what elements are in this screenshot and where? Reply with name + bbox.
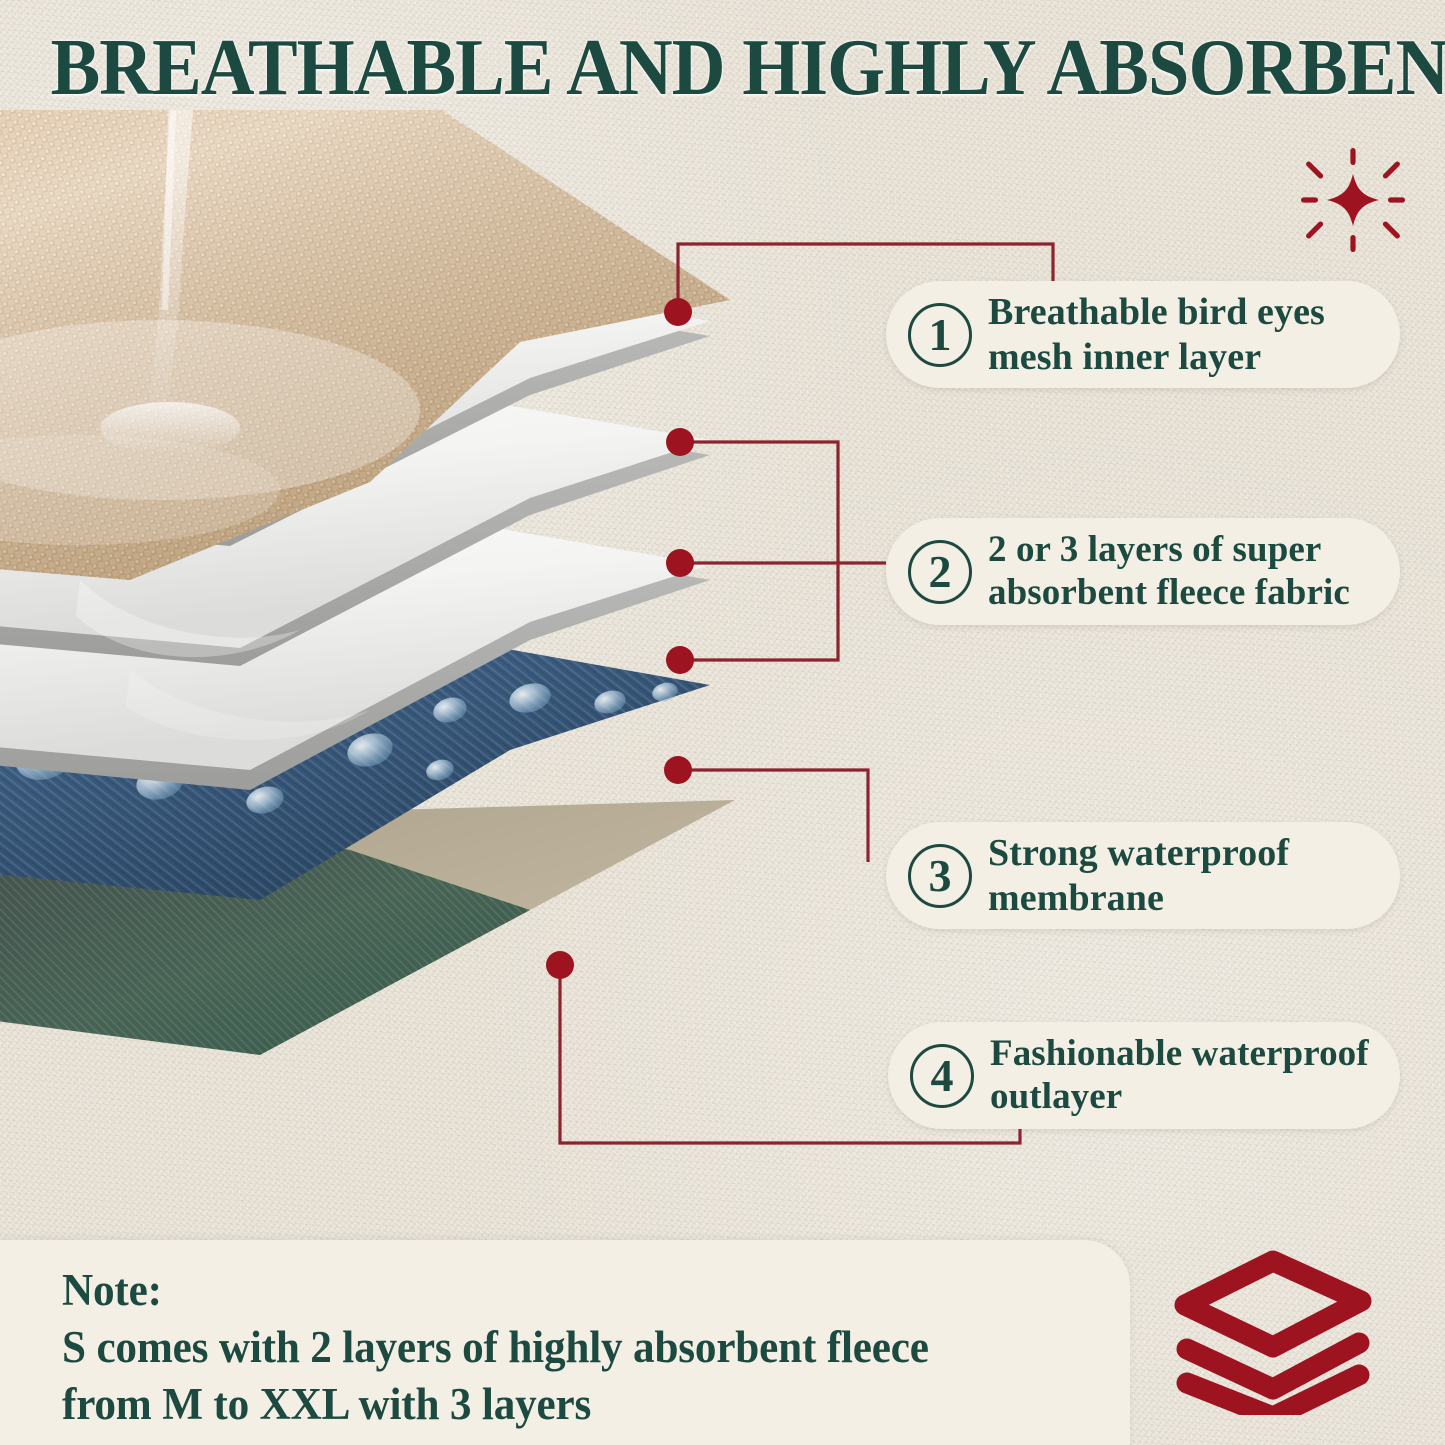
callout-text-3-line2: membrane (988, 876, 1289, 920)
page-title: BREATHABLE AND HIGHLY ABSORBENT (51, 28, 1395, 108)
note-text: Note: S comes with 2 layers of highly ab… (62, 1262, 965, 1433)
sparkle-icon (1301, 148, 1405, 252)
callout-text-2-line2: absorbent fleece fabric (988, 572, 1350, 615)
callout-number-2: 2 (908, 540, 972, 604)
callout-text-1: Breathable bird eyes mesh inner layer (988, 290, 1325, 378)
callout-text-1-line1: Breathable bird eyes (988, 290, 1325, 334)
callout-number-4: 4 (910, 1044, 974, 1108)
note-line-1: S comes with 2 layers of highly absorben… (62, 1319, 929, 1376)
callout-breathable-mesh[interactable]: 1 Breathable bird eyes mesh inner layer (886, 281, 1400, 388)
callout-number-1: 1 (908, 303, 972, 367)
callout-text-4-line1: Fashionable waterproof (990, 1033, 1369, 1076)
fabric-layer-stack-illustration (0, 110, 830, 1110)
callout-absorbent-fleece[interactable]: 2 2 or 3 layers of super absorbent fleec… (886, 518, 1400, 625)
callout-number-3: 3 (908, 844, 972, 908)
callout-text-2-line1: 2 or 3 layers of super (988, 529, 1350, 572)
callout-waterproof-membrane[interactable]: 3 Strong waterproof membrane (886, 822, 1400, 929)
callout-text-2: 2 or 3 layers of super absorbent fleece … (988, 529, 1350, 615)
callout-text-1-line2: mesh inner layer (988, 335, 1325, 379)
layers-stack-icon (1163, 1243, 1383, 1415)
callout-text-3: Strong waterproof membrane (988, 831, 1289, 919)
callout-text-3-line1: Strong waterproof (988, 831, 1289, 875)
infographic-canvas: BREATHABLE AND HIGHLY ABSORBENT (0, 0, 1445, 1445)
note-line-2: from M to XXL with 3 layers (62, 1376, 929, 1433)
callout-waterproof-outlayer[interactable]: 4 Fashionable waterproof outlayer (888, 1022, 1400, 1129)
callout-text-4-line2: outlayer (990, 1076, 1369, 1119)
callout-text-4: Fashionable waterproof outlayer (990, 1033, 1369, 1119)
note-card: Note: S comes with 2 layers of highly ab… (0, 1240, 1130, 1445)
note-label: Note: (62, 1262, 929, 1319)
